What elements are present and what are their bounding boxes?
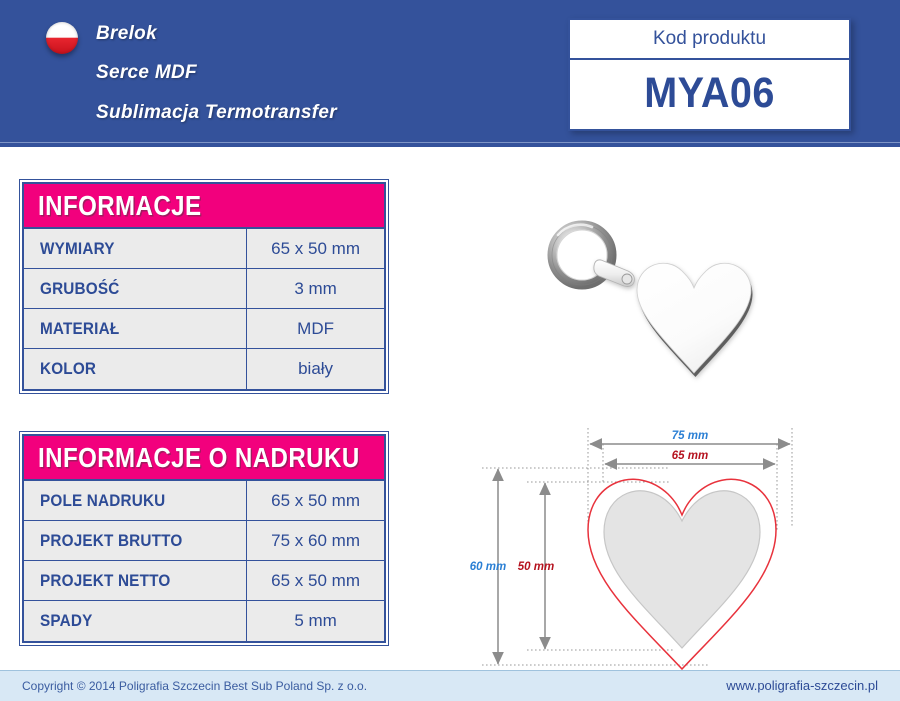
- row-label: PROJEKT NETTO: [24, 561, 247, 600]
- dimension-arrow-width-outer: 75 mm: [590, 430, 790, 444]
- row-value: biały: [247, 349, 384, 389]
- row-value: 65 x 50 mm: [247, 481, 384, 520]
- row-value: 5 mm: [247, 601, 384, 641]
- page-footer: Copyright © 2014 Poligrafia Szczecin Bes…: [0, 670, 900, 701]
- dimension-arrow-width-inner: 65 mm: [605, 450, 775, 464]
- row-label: PROJEKT BRUTTO: [24, 521, 247, 560]
- dimension-arrow-height-inner: 50 mm: [518, 483, 554, 649]
- heart-body: [637, 263, 753, 377]
- footer-website-link[interactable]: www.poligrafia-szczecin.pl: [726, 678, 878, 693]
- informacje-table-title: INFORMACJE: [38, 190, 202, 222]
- table-row: PROJEKT NETTO 65 x 50 mm: [24, 561, 384, 601]
- row-label: KOLOR: [24, 349, 247, 389]
- row-value: 65 x 50 mm: [247, 229, 384, 268]
- informacje-table-header: INFORMACJE: [24, 184, 384, 229]
- nadruku-table: INFORMACJE O NADRUKU POLE NADRUKU 65 x 5…: [22, 434, 386, 643]
- inner-width-label: 65 mm: [672, 450, 708, 462]
- table-row: SPADY 5 mm: [24, 601, 384, 641]
- table-row: KOLOR biały: [24, 349, 384, 389]
- footer-copyright: Copyright © 2014 Poligrafia Szczecin Bes…: [22, 679, 367, 693]
- table-row: GRUBOŚĆ 3 mm: [24, 269, 384, 309]
- inner-height-label: 50 mm: [518, 561, 554, 573]
- nadruku-table-header: INFORMACJE O NADRUKU: [24, 436, 384, 481]
- product-code-box: Kod produktu MYA06: [568, 18, 851, 131]
- row-label: SPADY: [24, 601, 247, 641]
- product-code-label: Kod produktu: [570, 20, 849, 60]
- row-value: 65 x 50 mm: [247, 561, 384, 600]
- header-product-model: Serce MDF: [96, 62, 197, 84]
- nadruku-table-title: INFORMACJE O NADRUKU: [38, 442, 360, 474]
- poland-flag-icon: [46, 22, 78, 54]
- row-label: WYMIARY: [24, 229, 247, 268]
- table-row: WYMIARY 65 x 50 mm: [24, 229, 384, 269]
- dimension-arrow-height-outer: 60 mm: [470, 469, 506, 664]
- outer-width-label: 75 mm: [672, 430, 708, 442]
- table-row: PROJEKT BRUTTO 75 x 60 mm: [24, 521, 384, 561]
- header-print-method: Sublimacja Termotransfer: [96, 102, 337, 124]
- product-code-value: MYA06: [581, 60, 838, 129]
- row-value: MDF: [247, 309, 384, 348]
- row-value: 75 x 60 mm: [247, 521, 384, 560]
- table-row: POLE NADRUKU 65 x 50 mm: [24, 481, 384, 521]
- outer-height-label: 60 mm: [470, 561, 506, 573]
- heart-dimension-diagram: 75 mm 65 mm 60 mm 50 mm: [470, 420, 810, 675]
- heart-keychain-photo: [500, 195, 790, 395]
- table-row: MATERIAŁ MDF: [24, 309, 384, 349]
- informacje-table: INFORMACJE WYMIARY 65 x 50 mm GRUBOŚĆ 3 …: [22, 182, 386, 391]
- row-label: GRUBOŚĆ: [24, 269, 247, 308]
- row-label: MATERIAŁ: [24, 309, 247, 348]
- row-label: POLE NADRUKU: [24, 481, 247, 520]
- row-value: 3 mm: [247, 269, 384, 308]
- header-underline: [0, 142, 900, 147]
- header-product-type: Brelok: [96, 23, 157, 45]
